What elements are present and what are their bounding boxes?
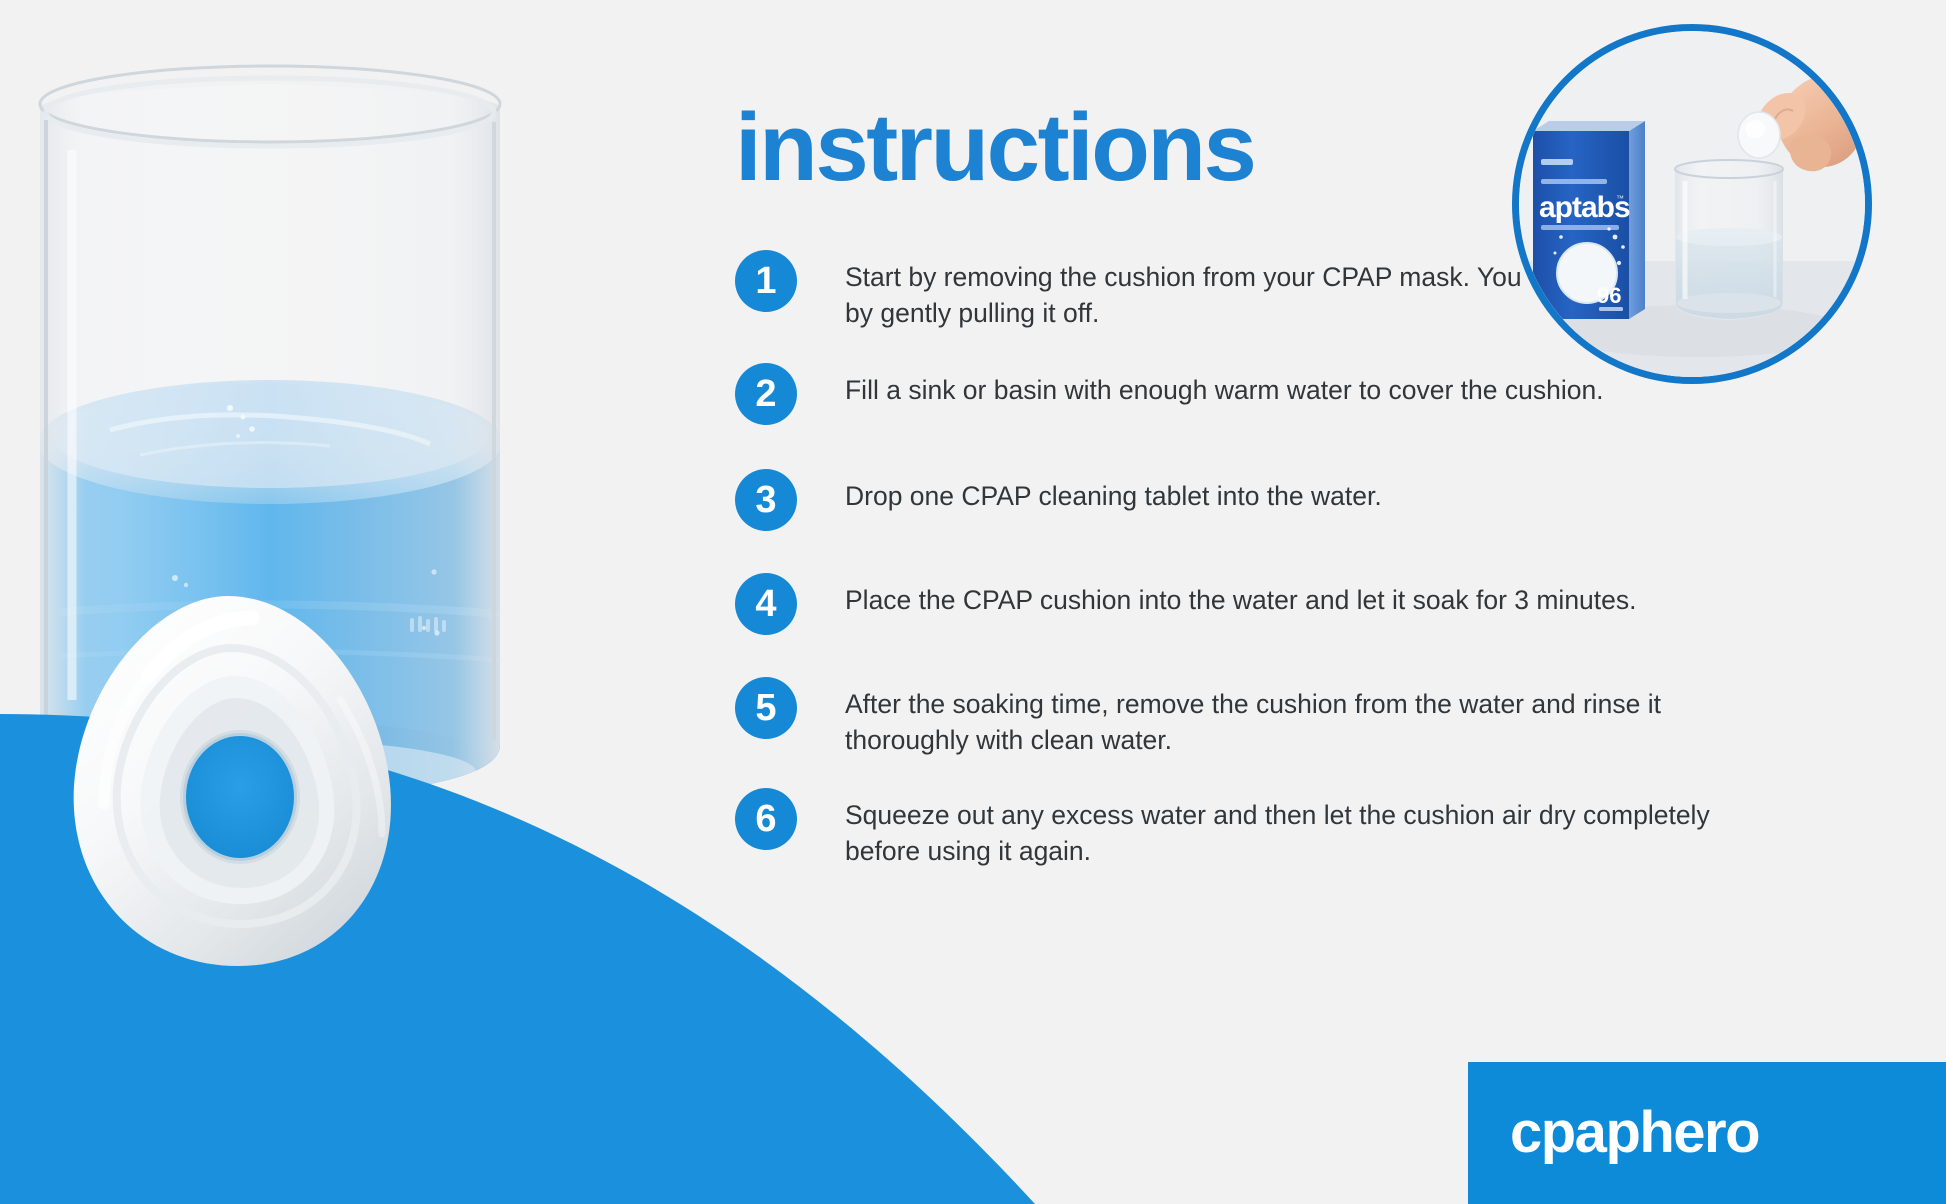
cpap-cushion-illustration [78,600,388,962]
step-number-badge: 1 [735,250,797,312]
step-number-badge: 5 [735,677,797,739]
brand-logo[interactable]: cpaphero [1468,1062,1946,1204]
step-text: After the soaking time, remove the cushi… [845,683,1765,758]
glass-of-water-photo [0,0,760,1204]
step-number-badge: 6 [735,788,797,850]
svg-text:96: 96 [1597,283,1621,308]
logo-text: cpaphero [1510,1104,1759,1162]
step-text: Place the CPAP cushion into the water an… [845,579,1637,619]
step-text: Drop one CPAP cleaning tablet into the w… [845,475,1382,515]
step-text: Fill a sink or basin with enough warm wa… [845,369,1604,409]
step-text: Squeeze out any excess water and then le… [845,794,1765,869]
svg-text:™: ™ [1616,194,1624,203]
glass-in-inset [1675,160,1783,320]
step-number-badge: 4 [735,573,797,635]
list-item: 4 Place the CPAP cushion into the water … [735,579,1855,635]
cpap-cushion-front [0,0,760,1204]
step-number-badge: 3 [735,469,797,531]
list-item: 6 Squeeze out any excess water and then … [735,794,1855,869]
step-number-badge: 2 [735,363,797,425]
list-item: 5 After the soaking time, remove the cus… [735,683,1855,758]
poster-canvas: instructions 1 Start by removing the cus… [0,0,1946,1204]
list-item: 3 Drop one CPAP cleaning tablet into the… [735,475,1855,531]
product-photo-inset: aptabs ™ 96 [1512,24,1872,384]
product-box: aptabs ™ 96 [1533,121,1645,319]
